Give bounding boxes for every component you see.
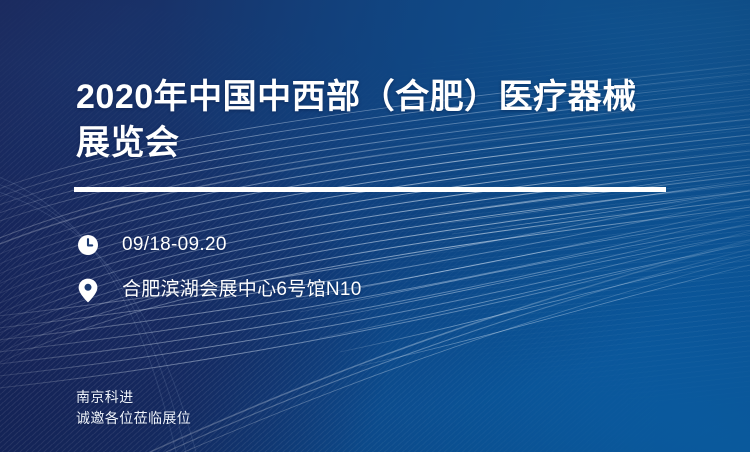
banner-content: 2020年中国中西部（合肥）医疗器械 展览会 09/18-09.20 合肥滨湖会… [0, 0, 750, 452]
event-venue-text: 合肥滨湖会展中心6号馆N10 [122, 277, 362, 303]
event-banner: 2020年中国中西部（合肥）医疗器械 展览会 09/18-09.20 合肥滨湖会… [0, 0, 750, 452]
title-divider [74, 187, 666, 192]
event-date-row: 09/18-09.20 [76, 232, 227, 258]
exhibitor-note: 南京科进 诚邀各位莅临展位 [76, 387, 191, 429]
page-title-line-1: 2020年中国中西部（合肥）医疗器械 [76, 74, 676, 120]
exhibitor-invitation: 诚邀各位莅临展位 [76, 408, 191, 429]
event-date-text: 09/18-09.20 [122, 232, 227, 258]
exhibitor-name: 南京科进 [76, 387, 191, 408]
page-title-line-2: 展览会 [76, 120, 676, 166]
event-venue-row: 合肥滨湖会展中心6号馆N10 [76, 277, 362, 303]
page-title: 2020年中国中西部（合肥）医疗器械 展览会 [76, 74, 676, 166]
location-pin-icon [76, 277, 100, 303]
clock-icon [76, 232, 100, 258]
